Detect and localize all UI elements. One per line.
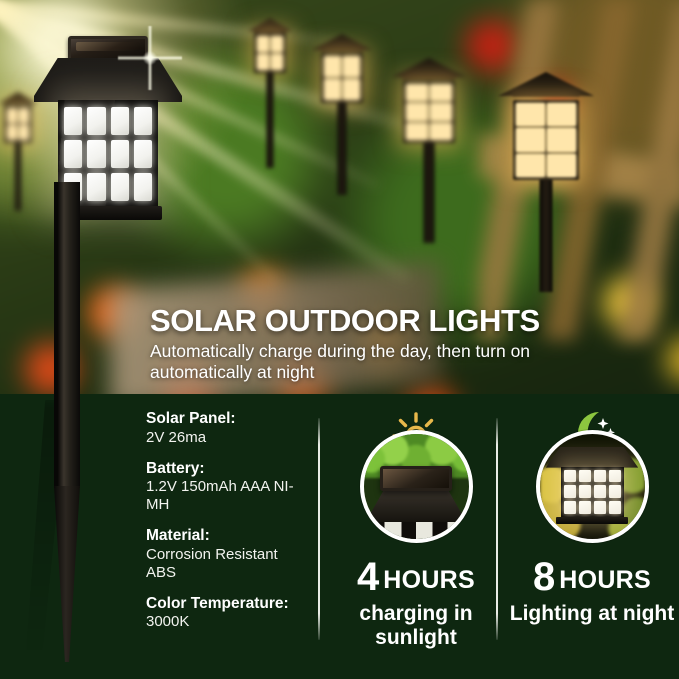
background-lantern	[392, 58, 466, 243]
duration-line: 8HOURS	[508, 555, 676, 600]
feature-charging: 4HOURS charging in sunlight	[332, 404, 500, 649]
feature-description: charging in sunlight	[332, 602, 500, 649]
spec-label: Material:	[146, 527, 306, 546]
spec-label: Solar Panel:	[146, 410, 306, 429]
background-lantern	[312, 34, 372, 194]
background-lantern	[248, 18, 292, 168]
background-lantern	[498, 72, 594, 292]
lantern-roof	[34, 58, 182, 102]
spec-value: 3000K	[146, 613, 306, 631]
spec-item: Color Temperature: 3000K	[146, 595, 306, 632]
duration-unit: HOURS	[383, 566, 475, 594]
spec-item: Material: Corrosion Resistant ABS	[146, 527, 306, 582]
page-title: SOLAR OUTDOOR LIGHTS	[150, 303, 540, 339]
spec-label: Battery:	[146, 460, 306, 479]
lit-lantern-photo	[536, 430, 649, 543]
duration-number: 8	[533, 555, 554, 599]
feature-description: Lighting at night	[508, 602, 676, 626]
spec-label: Color Temperature:	[146, 595, 306, 614]
spec-value: 2V 26ma	[146, 429, 306, 447]
duration-line: 4HOURS	[332, 555, 500, 600]
spec-item: Battery: 1.2V 150mAh AAA NI-MH	[146, 460, 306, 515]
duration-number: 4	[357, 555, 378, 599]
page-subtitle: Automatically charge during the day, the…	[150, 341, 540, 384]
product-marketing-image: SOLAR OUTDOOR LIGHTS Automatically charg…	[0, 0, 679, 679]
background-lantern	[0, 92, 38, 212]
feature-lighting: 8HOURS Lighting at night	[508, 404, 676, 626]
duration-unit: HOURS	[559, 566, 651, 594]
spec-value: 1.2V 150mAh AAA NI-MH	[146, 478, 306, 514]
lantern-post	[54, 182, 80, 488]
spec-value: Corrosion Resistant ABS	[146, 546, 306, 582]
solar-panel-photo	[360, 430, 473, 543]
spec-list: Solar Panel: 2V 26ma Battery: 1.2V 150mA…	[146, 410, 306, 644]
column-divider	[318, 418, 320, 640]
spec-item: Solar Panel: 2V 26ma	[146, 410, 306, 447]
